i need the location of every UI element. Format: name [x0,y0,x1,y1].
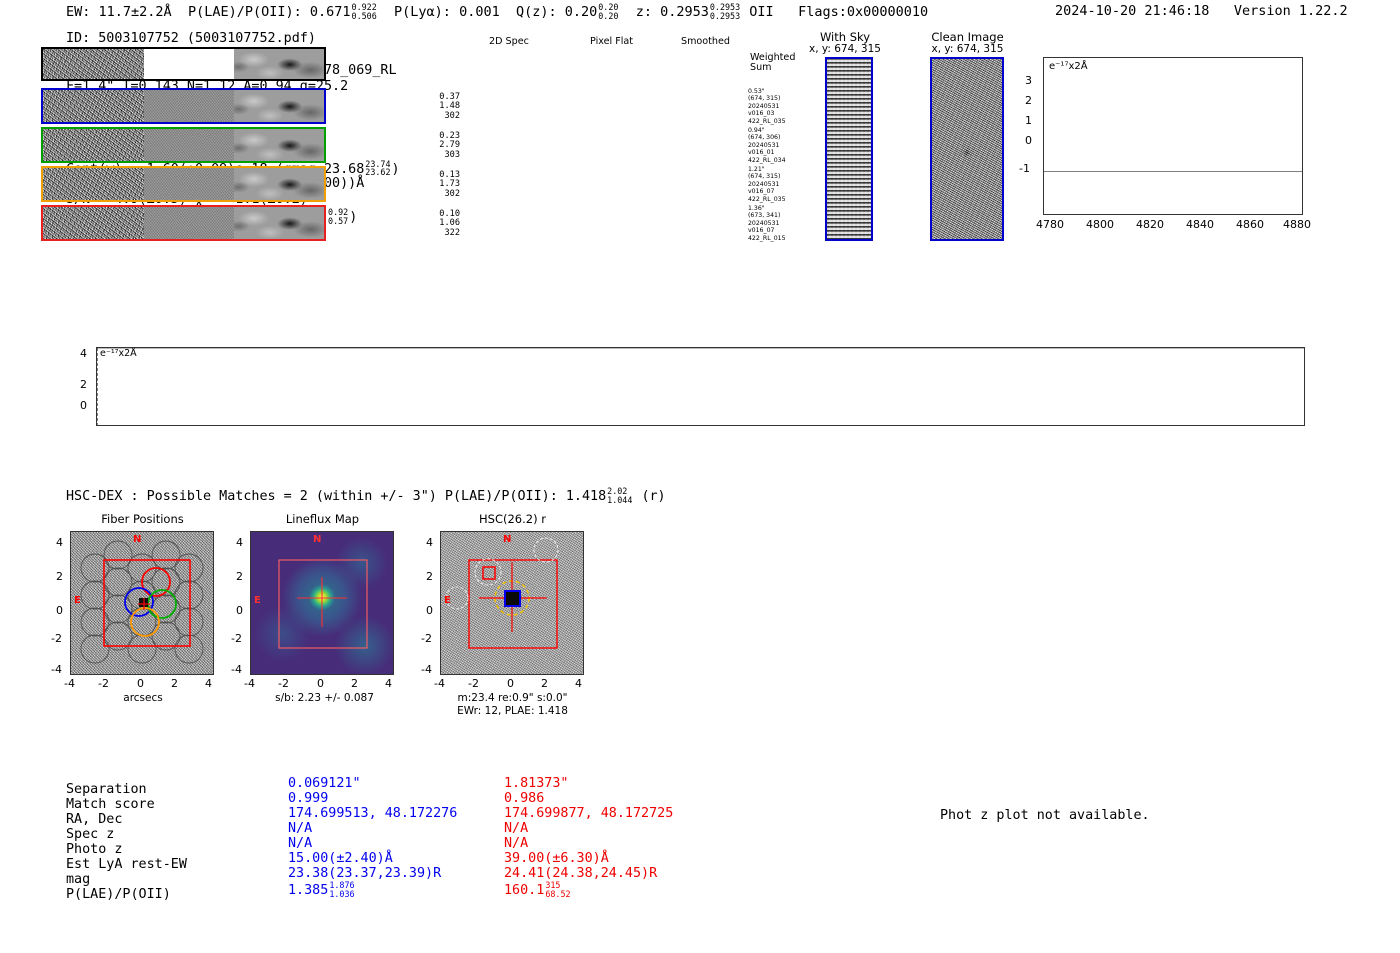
match1-match-score: 0.999 [288,791,328,807]
compass-e-fiber: E [74,595,81,606]
spec-nums-1: 0.37 1.48 302 [424,93,460,121]
spec-side-2: 0.94" (674, 306) 20240531 v016_01 422_RL… [748,127,786,164]
plya-value: 0.001 [459,4,500,20]
lf-xtick-2: 2 [351,677,358,690]
lf-xtick-m4: -4 [244,677,255,690]
match1-plae: 1.3851.8761.036 [288,881,356,899]
spec-nums-3: 0.13 1.73 302 [424,171,460,199]
spec-nums-2: 0.23 2.79 303 [424,132,460,160]
fiber-ytick-m2: -2 [51,632,62,645]
hsc-image-title: HSC(26.2) r [430,512,595,526]
spec-row-1 [41,88,326,124]
hsc-image-overlay [441,532,583,674]
match1-photo-z: N/A [288,836,312,852]
lf-ytick-m2: -2 [231,632,242,645]
match2-plae: 160.131568.52 [504,881,572,899]
emission-plot-units-annotation: e⁻¹⁷x2Å [1049,61,1088,72]
lf-xtick-0: 0 [317,677,324,690]
cleanimage-subtitle: x, y: 674, 315 [905,43,1030,55]
elp-ytick-3: 3 [1025,74,1032,87]
fs-ytick-0: 0 [80,399,87,412]
row-label-separation: Separation [66,782,147,798]
lineflux-map-image: N E [250,531,394,675]
hsc-ytick-m4: -4 [421,663,432,676]
compass-n-lineflux: N [313,534,321,545]
plya-label: P(Lyα): [394,4,451,20]
row-label-radec: RA, Dec [66,812,122,828]
header-timestamp-version: 2024-10-20 21:46:18 Version 1.22.2 [1055,3,1348,19]
qz-range: 0.200.20 [598,3,618,20]
withsky-title: With Sky [790,30,900,44]
compass-e-lineflux: E [254,595,261,606]
elp-xtick-4880: 4880 [1283,218,1311,231]
z-range: 0.29530.2953 [710,3,740,20]
fiber-xtick-m2: -2 [98,677,109,690]
match1-radec: 174.699513, 48.172276 [288,806,457,822]
elp-ytick-2: 2 [1025,94,1032,107]
qz-label: Q(z): [516,4,557,20]
lf-ytick-m4: -4 [231,663,242,676]
fs-ytick-4: 4 [80,347,87,360]
info-plae-w-range: 0.920.57 [328,208,348,225]
hsc-r-image: N E [440,531,584,675]
withsky-subtitle: x, y: 674, 315 [790,43,900,55]
plae-value: 0.671 [310,4,351,20]
lineflux-map-overlay [251,532,393,674]
elp-xtick-4820: 4820 [1136,218,1164,231]
spec-title-smoothed: Smoothed [681,36,730,47]
spec-side-3: 1.21" (674, 315) 20240531 v016_07 422_RL… [748,166,786,203]
hsc-xtick-2: 2 [541,677,548,690]
emission-line-plot: e⁻¹⁷x2Å [1043,57,1303,215]
info-id: ID: 5003107752 (5003107752.pdf) [66,31,400,47]
match1-mag: 23.38(23.37,23.39)R [288,866,441,882]
fiber-positions-title: Fiber Positions [60,512,225,526]
cleanimage-cutout-image [930,57,1004,241]
report-datetime: 2024-10-20 21:46:18 [1055,3,1209,19]
ew-value: 11.7±2.2Å [99,4,172,20]
compass-n-hsc: N [503,534,511,545]
match1-est-lya-ew: 15.00(±2.40)Å [288,851,393,867]
match1-plae-range: 1.8761.036 [329,881,354,898]
hsc-xtick-4: 4 [575,677,582,690]
full-spectrum-units-annotation: e⁻¹⁷x2Å [100,348,137,359]
elp-ytick-1: 1 [1025,114,1032,127]
lineflux-map-title: Lineflux Map [240,512,405,526]
fiber-ytick-4: 4 [56,536,63,549]
hsc-xaxis-label: m:23.4 re:0.9" s:0.0" [440,692,585,704]
lf-ytick-0: 0 [236,604,243,617]
lf-xtick-4: 4 [385,677,392,690]
hsc-ytick-0: 0 [426,604,433,617]
spec-row-2 [41,127,326,163]
full-spectrum-plot: e⁻¹⁷x2Å [96,347,1305,426]
match2-radec: 174.699877, 48.172725 [504,806,673,822]
hsc-dex-range: 2.021.044 [607,487,632,504]
lf-ytick-2: 2 [236,570,243,583]
compass-n-fiber: N [133,534,141,545]
row-label-mag: mag [66,872,90,888]
fiber-ytick-m4: -4 [51,663,62,676]
report-version: Version 1.22.2 [1234,3,1348,19]
elp-xtick-4840: 4840 [1186,218,1214,231]
spec-title-pixelflat: Pixel Flat [590,36,633,47]
plae-range: 0.9220.506 [352,3,377,20]
hsc-ytick-m2: -2 [421,632,432,645]
match2-est-lya-ew: 39.00(±6.30)Å [504,851,609,867]
hsc-xaxis-label2: EWr: 12, PLAE: 1.418 [440,705,585,717]
hsc-dex-summary: HSC-DEX : Possible Matches = 2 (within +… [66,487,666,504]
hsc-xtick-m4: -4 [434,677,445,690]
qz-value: 0.20 [565,4,598,20]
lf-xtick-m2: -2 [278,677,289,690]
elp-ytick-m1: -1 [1019,162,1030,175]
fiber-xtick-0: 0 [137,677,144,690]
z-species: OII [749,4,773,20]
z-label: z: [636,4,652,20]
row-label-est-lya-ew: Est LyA rest-EW [66,857,187,873]
header-summary-line: EW: 11.7±2.2Å P(LAE)/P(OII): 0.6710.9220… [66,3,928,20]
spec-nums-4: 0.10 1.06 322 [424,210,460,238]
lf-ytick-4: 4 [236,536,243,549]
cleanimage-title: Clean Image [905,30,1030,44]
plae-label: P(LAE)/P(OII): [188,4,302,20]
elixer-report-page: EW: 11.7±2.2Å P(LAE)/P(OII): 0.6710.9220… [0,0,1400,953]
match2-separation: 1.81373" [504,776,569,792]
match1-spec-z: N/A [288,821,312,837]
match2-photo-z: N/A [504,836,528,852]
lineflux-xaxis-label: s/b: 2.23 +/- 0.087 [252,692,397,704]
spec-row-weighted-sum [41,47,326,81]
gmag-range: 23.7423.62 [365,160,390,177]
fiber-ytick-0: 0 [56,604,63,617]
fiber-xtick-4: 4 [205,677,212,690]
match2-mag: 24.41(24.38,24.45)R [504,866,657,882]
hsc-ytick-4: 4 [426,536,433,549]
flags-value: Flags:0x00000010 [798,4,928,20]
full-spectrum-svg [97,348,1304,425]
compass-e-hsc: E [444,595,451,606]
fiber-xtick-2: 2 [171,677,178,690]
emission-line-svg [1044,58,1302,214]
row-label-photo-z: Photo z [66,842,122,858]
fiber-ytick-2: 2 [56,570,63,583]
match1-separation: 0.069121" [288,776,361,792]
spec-row-4 [41,205,326,241]
hsc-dex-filter: (r) [641,489,665,504]
spec-title-weighted-sum: Weighted Sum [750,53,795,73]
row-label-match-score: Match score [66,797,155,813]
photz-not-available-note: Phot z plot not available. [940,808,1150,823]
elp-xtick-4860: 4860 [1236,218,1264,231]
hsc-xtick-0: 0 [507,677,514,690]
match2-plae-range: 31568.52 [545,881,570,898]
hsc-dex-text: HSC-DEX : Possible Matches = 2 (within +… [66,489,606,504]
withsky-cutout-image [825,57,873,241]
hsc-xtick-m2: -2 [468,677,479,690]
ew-label: EW: [66,4,90,20]
fiber-xaxis-label: arcsecs [88,692,198,704]
spec-row-3 [41,166,326,202]
fs-ytick-2: 2 [80,378,87,391]
spec-title-2dspec: 2D Spec [489,36,529,47]
fiber-positions-image: N E [70,531,214,675]
spec-side-4: 1.36" (673, 341) 20240531 v016_07 422_RL… [748,205,786,242]
fiber-positions-overlay [71,532,213,674]
hsc-ytick-2: 2 [426,570,433,583]
row-label-plae: P(LAE)/P(OII) [66,887,171,903]
z-value: 0.2953 [660,4,709,20]
elp-ytick-0: 0 [1025,134,1032,147]
fiber-xtick-m4: -4 [64,677,75,690]
elp-xtick-4780: 4780 [1036,218,1064,231]
row-label-spec-z: Spec z [66,827,114,843]
elp-xtick-4800: 4800 [1086,218,1114,231]
match2-match-score: 0.986 [504,791,544,807]
spec-side-1: 0.53" (674, 315) 20240531 v016_03 422_RL… [748,88,786,125]
match2-spec-z: N/A [504,821,528,837]
